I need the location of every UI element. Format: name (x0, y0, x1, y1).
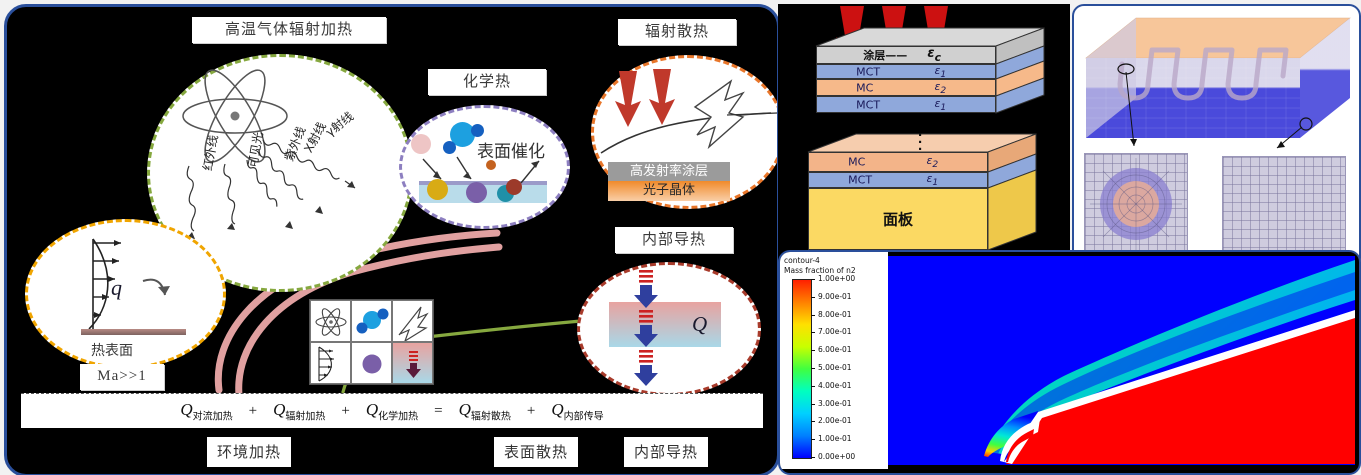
reaction-arrows (399, 105, 565, 225)
velocity-profile-icon (310, 342, 351, 384)
eq-op-plus-3: + (527, 403, 535, 420)
hot-surface-label: 热表面 (91, 340, 133, 360)
stack-layer-coating: 涂层—— εc (816, 46, 996, 64)
conduction-q-symbol: Q (692, 312, 707, 337)
colorbar-tick-mark (811, 315, 815, 316)
conduction-arrows (577, 262, 757, 392)
multilayer-stack-panel: 辐射波λ 涂层—— εc MCT ε1 MC ε2 (778, 4, 1070, 266)
contour-colorbar: contour-4 Mass fraction of n2 1.00e+009.… (780, 252, 888, 469)
colorbar-tick-label: 6.00e-01 (818, 345, 852, 354)
colorbar-tick-mark (811, 350, 815, 351)
stack-layer-mc-2: MC ε2 (808, 152, 988, 172)
mass-fraction-contour-field (888, 256, 1355, 465)
eq-op-plus-2: + (341, 403, 349, 420)
high-emissivity-coating-label: 高发射率涂层 (608, 162, 730, 181)
colorbar-tick-mark (811, 421, 815, 422)
eq-term-conduction: Q内部传导 (551, 400, 603, 422)
atom-icon (310, 300, 351, 342)
group-label-environment-heating: 环境加热 (207, 437, 291, 467)
group-label-surface-cooling: 表面散热 (494, 437, 578, 467)
conduction-arrow-icon (392, 342, 433, 384)
eq-term-convective: Q对流加热 (180, 400, 232, 422)
caption-radiative-cooling: 辐射散热 (618, 19, 736, 45)
eq-term-chemical: Q化学加热 (366, 400, 418, 422)
colorbar-tick-label: 1.00e-01 (818, 434, 852, 443)
arrow-lightning-icon (392, 300, 433, 342)
colorbar-tick-mark (811, 386, 815, 387)
colorbar-gradient (792, 279, 812, 459)
surface-catalysis-label: 表面催化 (477, 137, 545, 162)
eq-term-radiative-heating: Q辐射加热 (273, 400, 325, 422)
colorbar-tick-label: 7.00e-01 (818, 327, 852, 336)
energy-balance-equation: Q对流加热 + Q辐射加热 + Q化学加热 = Q辐射散热 + Q内部传导 (21, 393, 763, 428)
particle-icon (351, 342, 392, 384)
cfd-contour-panel: contour-4 Mass fraction of n2 1.00e+009.… (778, 250, 1361, 475)
colorbar-tick-mark (811, 332, 815, 333)
caption-gas-radiation-heating: 高温气体辐射加热 (192, 17, 386, 43)
colorbar-tick-mark (811, 439, 815, 440)
stack-layer-mct-1: MCT ε1 (816, 64, 996, 79)
caption-internal-conduction: 内部导热 (615, 227, 733, 253)
stack-layer-mc-1: MC ε2 (816, 79, 996, 96)
figure-root: 高温气体辐射加热 γ射线 X射线 (0, 0, 1361, 475)
mechanism-icon-grid (309, 299, 434, 385)
stack-layer-mct-2: MCT ε1 (816, 96, 996, 113)
wall-block-mesh (1222, 156, 1346, 254)
eq-term-radiative-cooling: Q辐射散热 (459, 400, 511, 422)
colorbar-tick-label: 1.00e+00 (818, 274, 855, 283)
molecule-icon (351, 300, 392, 342)
mach-number-label: Ma>>1 (80, 364, 164, 390)
group-label-internal-conduction: 内部导热 (624, 437, 708, 467)
colorbar-tick-label: 8.00e-01 (818, 310, 852, 319)
hot-surface-bar (81, 329, 186, 335)
convective-q-symbol: q (111, 275, 122, 301)
colorbar-tick-label: 5.00e-01 (818, 363, 852, 372)
colorbar-title-line1: contour-4 (784, 256, 820, 265)
pipe-cross-section-mesh (1084, 153, 1188, 255)
colorbar-tick-mark (811, 457, 815, 458)
colorbar-tick-label: 0.00e+00 (818, 452, 855, 461)
colorbar-tick-mark (811, 404, 815, 405)
stack-layer-panel: 面板 (808, 188, 988, 250)
colorbar-tick-label: 4.00e-01 (818, 381, 852, 390)
colorbar-tick-mark (811, 279, 815, 280)
mechanism-diagram-panel: 高温气体辐射加热 γ射线 X射线 (4, 4, 780, 475)
photonic-crystal-label: 光子晶体 (608, 181, 730, 201)
colorbar-tick-label: 3.00e-01 (818, 399, 852, 408)
eq-op-equals: = (434, 403, 442, 420)
stack-layer-mct-3: MCT ε1 (808, 172, 988, 188)
colorbar-tick-label: 2.00e-01 (818, 416, 852, 425)
eq-op-plus-1: + (249, 403, 257, 420)
colorbar-tick-mark (811, 297, 815, 298)
mesh-model-panel (1072, 4, 1361, 270)
stack-ellipsis: ··· (918, 132, 923, 153)
colorbar-tick-label: 9.00e-01 (818, 292, 852, 301)
caption-chemical-heat: 化学热 (428, 69, 546, 95)
colorbar-tick-mark (811, 368, 815, 369)
